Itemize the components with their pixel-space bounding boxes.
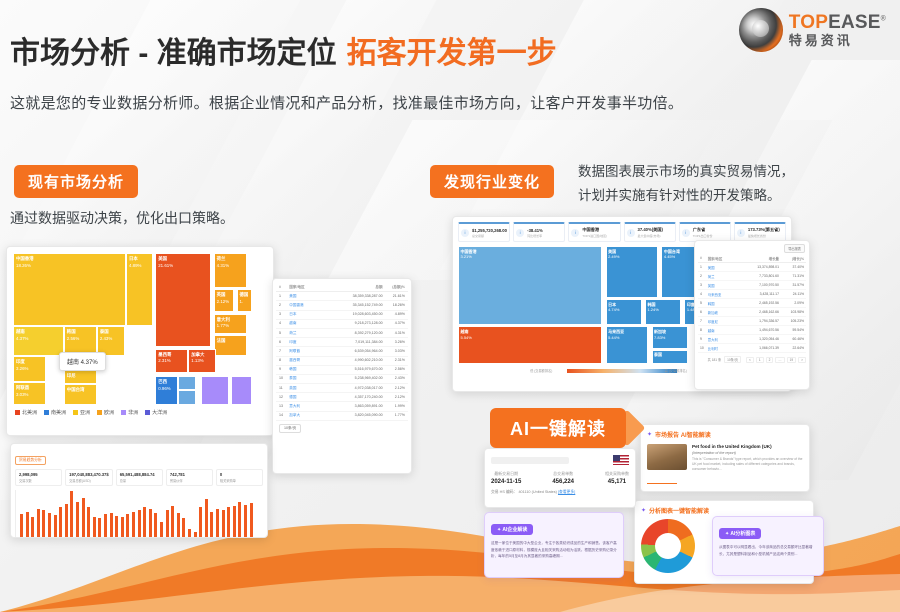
rank-percent: 60.46% bbox=[779, 337, 804, 342]
treemap-cell[interactable] bbox=[178, 376, 196, 390]
report-body: This is "Consumer & Brands" type report,… bbox=[692, 457, 803, 473]
section-left-tag: 现有市场分析 bbox=[14, 165, 138, 198]
bar[interactable] bbox=[31, 517, 34, 537]
rank-num: 7 bbox=[700, 319, 708, 324]
treemap-cell[interactable]: 越南4.37% bbox=[13, 326, 64, 356]
rank-growth: 1,066,071.39 bbox=[740, 346, 779, 351]
bar[interactable] bbox=[182, 518, 185, 537]
col-country: 国家/地区 bbox=[289, 285, 330, 290]
rank-percent: 2.09% bbox=[779, 301, 804, 306]
hs-code-label: 交易 HS 编码： bbox=[491, 490, 517, 494]
page-button[interactable]: 1 bbox=[756, 357, 764, 363]
cell-amount: 3,863,059,891.00 bbox=[330, 404, 382, 409]
cell-label: 泰国 bbox=[654, 352, 685, 358]
page-size-select[interactable]: 10条/页 bbox=[279, 424, 301, 433]
bar[interactable] bbox=[59, 507, 62, 537]
cell-value: 5.44% bbox=[608, 335, 619, 340]
growth-rank-table-panel[interactable]: 导出报表 # 国家/地区 增长量 (增长)% 1 美国 13,374,898.0… bbox=[694, 240, 810, 390]
market-report-card[interactable]: ✦ 市场报告 AI智能解读 Pet food in the United Kin… bbox=[640, 424, 810, 492]
bar[interactable] bbox=[244, 505, 247, 537]
ai-chart-note-card[interactable]: ✦ AI分析图表 从图表中可以明显看出，今年该商品的总交易额环比显著增长，尤其是… bbox=[712, 516, 824, 576]
table-row[interactable]: 5 荷兰 8,392,279,120.00 4.31% bbox=[276, 329, 408, 338]
bar[interactable] bbox=[115, 516, 118, 537]
rank-num: 10 bbox=[700, 346, 708, 351]
province-treemap-cell[interactable]: 越南5.54% bbox=[458, 326, 602, 364]
treemap-cell[interactable]: 意大利1.77% bbox=[214, 314, 247, 334]
legend-swatch bbox=[97, 410, 102, 415]
rank-row[interactable]: 7 印度尼 1,794,336.57 105.23% bbox=[698, 317, 806, 326]
table-row[interactable]: 7 阿联酋 6,539,054,964.00 3.03% bbox=[276, 347, 408, 356]
bar[interactable] bbox=[222, 510, 225, 537]
cell-rank: 7 bbox=[279, 349, 289, 354]
ai-company-title: ✦ AI企业解读 bbox=[491, 524, 533, 535]
stat-col-label: 最新交易日期 bbox=[491, 471, 521, 477]
treemap-cell[interactable]: 法国 bbox=[214, 335, 247, 356]
treemap-cell-label: 德国 bbox=[240, 292, 249, 299]
treemap-cell-value: 4.89% bbox=[129, 263, 141, 268]
rank-growth: 2,465,192.56 bbox=[740, 301, 779, 306]
rank-row[interactable]: 9 意大利 1,320,054.46 60.46% bbox=[698, 335, 806, 344]
treemap-legend[interactable]: 北美洲南美洲亚洲欧洲非洲大洋洲 bbox=[13, 409, 267, 416]
trend-icon: i bbox=[737, 229, 745, 237]
treemap-cell-value: 3.26% bbox=[16, 366, 28, 371]
treemap-cell[interactable]: 中国香港18.26% bbox=[13, 253, 126, 326]
treemap-cell-label: 印尼 bbox=[67, 373, 94, 380]
cell-country[interactable]: 美国 bbox=[289, 294, 330, 299]
section-right-desc-line1: 数据图表展示市场的真实贸易情况， bbox=[578, 160, 794, 184]
hs-code-footer: 交易 HS 编码： 401110 (United States) [查看更多] bbox=[491, 490, 629, 495]
rank-country[interactable]: 越南 bbox=[708, 328, 741, 333]
rank-row[interactable]: 8 越南 1,494,670.56 59.54% bbox=[698, 326, 806, 335]
treemap-chart[interactable]: 中国香港18.26%日本4.89%越南4.37%韩国2.56%泰国2.43%印度… bbox=[13, 253, 267, 405]
cell-amount: 19,028,603,450.00 bbox=[330, 312, 382, 317]
bar[interactable] bbox=[194, 532, 197, 537]
bar[interactable] bbox=[70, 491, 73, 537]
stat-col-value: 45,171 bbox=[605, 479, 629, 485]
bar[interactable] bbox=[93, 517, 96, 537]
legend-swatch bbox=[44, 410, 49, 415]
legend-label: 南美洲 bbox=[51, 409, 66, 416]
cell-percent: 3.26% bbox=[383, 340, 405, 345]
sparkle-icon: ✦ bbox=[725, 531, 729, 537]
bar[interactable] bbox=[42, 510, 45, 537]
report-thumbnail-icon bbox=[647, 444, 687, 470]
rank-num: 9 bbox=[700, 337, 708, 342]
table-row[interactable]: 6 印度 7,019,111,384.00 3.26% bbox=[276, 338, 408, 347]
info-icon: i bbox=[461, 229, 469, 237]
trade-trend-panel[interactable]: 贸易趋势分析 2,998,095交易次数197,040,883,470.37$交… bbox=[10, 443, 268, 538]
stat-column: 总交易单数456,224 bbox=[552, 471, 574, 485]
cell-amount: 38,359,338,287.00 bbox=[330, 294, 382, 299]
kpi-card[interactable]: i -38.41%同比增长率 bbox=[513, 222, 565, 242]
treemap-cell-value: 2.31% bbox=[158, 358, 170, 363]
treemap-cell[interactable]: 中国台湾 bbox=[64, 384, 97, 405]
page-button[interactable]: < bbox=[746, 357, 754, 363]
treemap-cell[interactable] bbox=[178, 390, 196, 405]
rank-pagination[interactable]: 共 181 条 10条/页 <12…19> bbox=[698, 356, 806, 363]
bar[interactable] bbox=[54, 515, 57, 537]
table-row[interactable]: 1 美国 38,359,338,287.00 21.61% bbox=[276, 292, 408, 301]
rank-growth: 7,100,970.50 bbox=[740, 283, 779, 288]
rank-num: 6 bbox=[700, 310, 708, 315]
rank-col-percent: (增长)% bbox=[779, 256, 804, 261]
bar[interactable] bbox=[121, 517, 124, 537]
rank-row[interactable]: 2 荷兰 7,733,801.60 71.31% bbox=[698, 272, 806, 281]
legend-item[interactable]: 欧洲 bbox=[97, 409, 114, 416]
cell-country[interactable]: 印度 bbox=[289, 340, 330, 345]
cell-country[interactable]: 墨西哥 bbox=[289, 358, 330, 363]
province-treemap-cell[interactable]: 中国香港3.21% bbox=[458, 246, 602, 325]
province-treemap-cell[interactable]: 日本4.74% bbox=[606, 299, 642, 325]
cell-percent: 2.12% bbox=[383, 386, 405, 391]
cell-rank: 9 bbox=[279, 367, 289, 372]
rank-country[interactable]: 新加坡 bbox=[708, 310, 741, 315]
legend-swatch bbox=[15, 410, 20, 415]
bar[interactable] bbox=[37, 509, 40, 537]
stat-column: 最新交易日期2024-11-15 bbox=[491, 471, 521, 485]
treemap-cell[interactable]: 印度3.26% bbox=[13, 356, 46, 382]
kpi-value: 中国香港 bbox=[582, 227, 607, 233]
cell-country[interactable]: 意大利 bbox=[289, 404, 330, 409]
bar[interactable] bbox=[149, 509, 152, 537]
stat-label: 总量 bbox=[120, 478, 159, 483]
bar[interactable] bbox=[126, 514, 129, 537]
bar[interactable] bbox=[87, 507, 90, 537]
treemap-cell[interactable]: 荷兰4.31% bbox=[214, 253, 247, 288]
kpi-card-row[interactable]: i $1,255,720,268.00总交易额i -38.41%同比增长率i 中… bbox=[458, 222, 786, 242]
ai-ribbon: AI一键解读 bbox=[490, 408, 626, 448]
cell-rank: 1 bbox=[279, 294, 289, 299]
cell-amount: 8,392,279,120.00 bbox=[330, 331, 382, 336]
section-right-desc: 数据图表展示市场的真实贸易情况， 计划并实施有针对性的开发策略。 bbox=[578, 160, 794, 207]
export-report-button[interactable]: 导出报表 bbox=[784, 244, 805, 253]
bar[interactable] bbox=[216, 509, 219, 537]
treemap-cell-value: 2.12% bbox=[217, 299, 229, 304]
bar[interactable] bbox=[82, 498, 85, 537]
cell-value: 5.54% bbox=[461, 335, 472, 340]
scale-label-low: 低 (交易额排名) bbox=[530, 368, 552, 373]
stat-column: 相关采购单数45,171 bbox=[605, 471, 629, 485]
legend-swatch bbox=[73, 410, 78, 415]
sparkle-icon: ✦ bbox=[497, 527, 501, 533]
cell-country[interactable]: 加拿大 bbox=[289, 413, 330, 418]
stat-tile: 0相关采购单 bbox=[216, 469, 263, 486]
rank-col-num: # bbox=[700, 256, 708, 261]
rank-country[interactable]: 韩国 bbox=[708, 301, 741, 306]
stat-col-label: 总交易单数 bbox=[552, 471, 574, 477]
rank-num: 3 bbox=[700, 283, 708, 288]
rank-country[interactable]: 比利时 bbox=[708, 346, 741, 351]
legend-item[interactable]: 非洲 bbox=[121, 409, 138, 416]
country-amount-table-panel[interactable]: # 国家/地区 总额 (总额)% 1 美国 38,359,338,287.00 … bbox=[272, 278, 412, 474]
rank-percent: 31.57% bbox=[779, 283, 804, 288]
cell-rank: 14 bbox=[279, 413, 289, 418]
page-title-accent: 拓客开发第一步 bbox=[347, 37, 557, 70]
bar[interactable] bbox=[166, 510, 169, 537]
page-button[interactable]: 2 bbox=[766, 357, 774, 363]
rank-percent: 71.31% bbox=[779, 274, 804, 279]
treemap-cell[interactable]: 加拿大1.13% bbox=[188, 349, 216, 373]
rank-col-country: 国家/地区 bbox=[708, 256, 741, 261]
treemap-panel[interactable]: 中国香港18.26%日本4.89%越南4.37%韩国2.56%泰国2.43%印度… bbox=[6, 246, 274, 436]
treemap-cell-label: 加拿大 bbox=[191, 352, 213, 359]
trade-trend-bar-chart[interactable] bbox=[15, 490, 263, 538]
cell-amount: 35,345,152,749.00 bbox=[330, 303, 382, 308]
province-treemap-cell[interactable]: 马来西亚5.44% bbox=[606, 326, 649, 364]
cell-country[interactable]: 日本 bbox=[289, 312, 330, 317]
rank-page-size[interactable]: 10条/页 bbox=[724, 356, 741, 363]
province-treemap-cell[interactable]: 美国2.49% bbox=[606, 246, 658, 298]
rank-percent: 24.11% bbox=[779, 292, 804, 297]
cell-country[interactable]: 中国香港 bbox=[289, 303, 330, 308]
ai-company-title-text: AI企业解读 bbox=[502, 527, 527, 533]
rank-num: 1 bbox=[700, 265, 708, 270]
treemap-cell[interactable]: 英国2.12% bbox=[214, 289, 234, 312]
bar[interactable] bbox=[233, 506, 236, 537]
table-row[interactable]: 8 墨西哥 4,990,602,210.00 2.31% bbox=[276, 357, 408, 366]
kpi-value: 173.73%(第五省) bbox=[748, 227, 780, 233]
bar[interactable] bbox=[160, 522, 163, 537]
sparkle-icon: ✦ bbox=[647, 431, 652, 438]
rank-growth: 1,794,336.57 bbox=[740, 319, 779, 324]
province-treemap-cell[interactable]: 韩国1.24% bbox=[645, 299, 681, 325]
bar[interactable] bbox=[154, 513, 157, 537]
report-subheading: (Interpretation of the report) bbox=[692, 451, 803, 455]
treemap-cell-label: 阿联酋 bbox=[16, 385, 43, 392]
cell-rank: 5 bbox=[279, 331, 289, 336]
table-row[interactable]: 10 泰国 5,238,969,402.00 2.43% bbox=[276, 375, 408, 384]
page-button[interactable]: 19 bbox=[787, 357, 797, 363]
ai-chart-note-body: 从图表中可以明显看出，今年该商品的总交易额环比显著增长，尤其是塑料制品和小型机械… bbox=[719, 544, 817, 557]
kpi-label: 总交易额 bbox=[472, 234, 507, 238]
cell-value: 2.49% bbox=[608, 254, 619, 259]
cell-amount: 4,972,038,017.00 bbox=[330, 386, 382, 391]
section-right-tag-wrap: 发现行业变化 bbox=[430, 165, 554, 198]
legend-item[interactable]: 南美洲 bbox=[44, 409, 66, 416]
cell-country[interactable]: 泰国 bbox=[289, 376, 330, 381]
kpi-card[interactable]: i 173.73%(第五省)最快增长省份 bbox=[734, 222, 786, 242]
kpi-label: 最快增长省份 bbox=[748, 234, 780, 238]
rank-row[interactable]: 4 马来西亚 3,428,111.17 24.11% bbox=[698, 290, 806, 299]
treemap-cell-label: 中国香港 bbox=[16, 256, 123, 263]
cell-percent: 4.89% bbox=[383, 312, 405, 317]
rank-row[interactable]: 3 英国 7,100,970.50 31.57% bbox=[698, 281, 806, 290]
stat-value: 742,781 bbox=[170, 472, 209, 477]
bar[interactable] bbox=[48, 513, 51, 537]
rank-growth: 3,428,111.17 bbox=[740, 292, 779, 297]
rank-row[interactable]: 1 美国 13,374,898.01 37.40% bbox=[698, 263, 806, 272]
rank-num: 4 bbox=[700, 292, 708, 297]
province-treemap-cell[interactable]: 新加坡7.83% bbox=[652, 326, 688, 348]
page-subtitle: 这就是您的专业数据分析师。根据企业情况和产品分析，找准最佳市场方向，让客户开发事… bbox=[10, 92, 683, 113]
kpi-card[interactable]: i $1,255,720,268.00总交易额 bbox=[458, 222, 510, 242]
rank-row[interactable]: 5 韩国 2,465,192.56 2.09% bbox=[698, 299, 806, 308]
rank-country[interactable]: 印度尼 bbox=[708, 319, 741, 324]
table-row[interactable]: 3 日本 19,028,603,450.00 4.89% bbox=[276, 311, 408, 320]
logo-wordmark: TOPEASE® bbox=[789, 13, 886, 33]
treemap-cell-value: 4.37% bbox=[16, 336, 28, 341]
cell-percent: 2.12% bbox=[383, 395, 405, 400]
transaction-stat-card[interactable]: 最新交易日期2024-11-15总交易单数456,224相关采购单数45,171… bbox=[484, 448, 636, 508]
kpi-value: $1,255,720,268.00 bbox=[472, 228, 507, 233]
bar[interactable] bbox=[177, 513, 180, 537]
cell-amount: 3,820,045,090.00 bbox=[330, 413, 382, 418]
cell-rank: 4 bbox=[279, 321, 289, 326]
cell-amount: 7,019,111,384.00 bbox=[330, 340, 382, 345]
brand-logo: TOPEASE® 特易资讯 bbox=[739, 8, 886, 52]
table-row[interactable]: 9 韩国 5,516,979,670.00 2.56% bbox=[276, 366, 408, 375]
treemap-cell-label: 中国台湾 bbox=[67, 387, 94, 394]
bar[interactable] bbox=[250, 503, 253, 537]
cell-value: 4.74% bbox=[608, 307, 619, 312]
cell-percent: 2.43% bbox=[383, 376, 405, 381]
rank-country[interactable]: 马来西亚 bbox=[708, 292, 741, 297]
table-footer[interactable]: 10条/页 bbox=[276, 424, 408, 433]
rank-col-growth: 增长量 bbox=[740, 256, 779, 261]
rank-header-row: # 国家/地区 增长量 (增长)% bbox=[698, 254, 806, 263]
rank-country[interactable]: 意大利 bbox=[708, 337, 741, 342]
bar[interactable] bbox=[110, 513, 113, 537]
view-more-link[interactable]: [查看更多] bbox=[558, 490, 575, 494]
kpi-card[interactable]: i 广东省TOP1出口省份 bbox=[679, 222, 731, 242]
treemap-cell-label: 印度 bbox=[16, 359, 43, 366]
cell-percent: 3.03% bbox=[383, 349, 405, 354]
bar[interactable] bbox=[227, 507, 230, 537]
bar[interactable] bbox=[98, 518, 101, 537]
cell-value: 3.21% bbox=[461, 254, 472, 259]
cell-percent: 1.77% bbox=[383, 413, 405, 418]
legend-label: 北美洲 bbox=[22, 409, 37, 416]
globe-icon: i bbox=[571, 229, 579, 237]
chart-card-title: 分析图表一键智能解读 bbox=[649, 506, 709, 515]
col-rank: # bbox=[279, 285, 289, 290]
cell-country[interactable]: 英国 bbox=[289, 386, 330, 391]
treemap-cell[interactable]: 墨西哥2.31% bbox=[155, 349, 188, 373]
rank-growth: 13,374,898.01 bbox=[740, 265, 779, 270]
table-header-row: # 国家/地区 总额 (总额)% bbox=[276, 283, 408, 292]
ai-company-card[interactable]: ✦ AI企业解读 这是一家位于美国的中大型企业，专注于各类纺织成品的生产和销售。… bbox=[484, 512, 624, 578]
ai-company-body: 这是一家位于美国的中大型企业，专注于各类纺织成品的生产和销售。该客户高度依赖于进… bbox=[491, 540, 617, 560]
treemap-cell-value: 2.43% bbox=[100, 336, 112, 341]
province-treemap-cell[interactable]: 泰国 bbox=[652, 350, 688, 364]
stat-columns: 最新交易日期2024-11-15总交易单数456,224相关采购单数45,171 bbox=[491, 471, 629, 485]
cell-country[interactable]: 越南 bbox=[289, 321, 330, 326]
table-row[interactable]: 11 英国 4,972,038,017.00 2.12% bbox=[276, 384, 408, 393]
cell-country[interactable]: 阿联酋 bbox=[289, 349, 330, 354]
treemap-cell-value: 1.77% bbox=[217, 323, 229, 328]
cell-rank: 8 bbox=[279, 358, 289, 363]
bar[interactable] bbox=[171, 506, 174, 537]
kpi-card[interactable]: i 37.40%(美国)最大集中度(市场) bbox=[624, 222, 676, 242]
rank-country[interactable]: 英国 bbox=[708, 283, 741, 288]
treemap-cell[interactable] bbox=[231, 376, 251, 405]
cell-country[interactable]: 韩国 bbox=[289, 367, 330, 372]
rank-num: 5 bbox=[700, 301, 708, 306]
bar[interactable] bbox=[104, 514, 107, 537]
treemap-cell-value: 2.56% bbox=[67, 336, 79, 341]
ai-chart-note-title-text: AI分析图表 bbox=[730, 531, 755, 537]
cell-amount: 4,357,170,240.00 bbox=[330, 395, 382, 400]
treemap-cell[interactable]: 巴西0.96% bbox=[155, 376, 178, 405]
treemap-cell[interactable] bbox=[201, 376, 229, 405]
rank-percent: 59.54% bbox=[779, 328, 804, 333]
bar[interactable] bbox=[132, 512, 135, 538]
cell-country[interactable]: 荷兰 bbox=[289, 331, 330, 336]
rank-row[interactable]: 10 比利时 1,066,071.39 22.64% bbox=[698, 344, 806, 353]
cell-amount: 6,539,054,964.00 bbox=[330, 349, 382, 354]
bar[interactable] bbox=[20, 514, 23, 537]
stat-value: 65,591,488,884.74 bbox=[120, 472, 159, 477]
report-heading: Pet food in the United Kingdom (UK) bbox=[692, 444, 803, 449]
page-button[interactable]: > bbox=[798, 357, 806, 363]
rank-country[interactable]: 荷兰 bbox=[708, 274, 741, 279]
cell-rank: 12 bbox=[279, 395, 289, 400]
cell-rank: 6 bbox=[279, 340, 289, 345]
legend-item[interactable]: 大洋洲 bbox=[145, 409, 167, 416]
kpi-value: 37.40%(美国) bbox=[638, 227, 663, 233]
bar[interactable] bbox=[199, 507, 202, 537]
stat-label: 贸易伙伴 bbox=[170, 478, 209, 483]
bar[interactable] bbox=[238, 502, 241, 537]
table-row[interactable]: 13 意大利 3,863,059,891.00 1.99% bbox=[276, 402, 408, 411]
legend-label: 亚洲 bbox=[80, 409, 90, 416]
treemap-cell-label: 泰国 bbox=[100, 329, 122, 336]
treemap-cell[interactable]: 日本4.89% bbox=[126, 253, 153, 326]
stat-tile: 2,998,095交易次数 bbox=[15, 469, 62, 486]
legend-item[interactable]: 北美洲 bbox=[15, 409, 37, 416]
table-row[interactable]: 2 中国香港 35,345,152,749.00 18.26% bbox=[276, 301, 408, 310]
topease-logo-icon bbox=[739, 8, 783, 52]
treemap-cell[interactable]: 德国1. bbox=[237, 289, 252, 312]
bar[interactable] bbox=[188, 529, 191, 537]
cell-value: 7.83% bbox=[654, 335, 665, 340]
bar[interactable] bbox=[26, 512, 29, 538]
cell-label: 中国香港 bbox=[461, 249, 600, 255]
treemap-cell-value: 21.61% bbox=[158, 263, 173, 268]
treemap-cell[interactable]: 阿联酋3.03% bbox=[13, 382, 46, 405]
bar[interactable] bbox=[210, 512, 213, 538]
kpi-card[interactable]: i 中国香港TOP1进口国(地区) bbox=[568, 222, 620, 242]
bar[interactable] bbox=[65, 504, 68, 537]
rank-num: 2 bbox=[700, 274, 708, 279]
legend-swatch bbox=[121, 410, 126, 415]
stat-value: 2,998,095 bbox=[19, 472, 58, 477]
chart-icon: i bbox=[627, 229, 635, 237]
treemap-cell[interactable]: 印尼 bbox=[64, 370, 97, 384]
bar[interactable] bbox=[205, 499, 208, 537]
table-row[interactable]: 4 越南 9,218,273,128.00 4.37% bbox=[276, 320, 408, 329]
treemap-cell[interactable]: 美国21.61% bbox=[155, 253, 211, 347]
cell-country[interactable]: 德国 bbox=[289, 395, 330, 400]
bar[interactable] bbox=[138, 510, 141, 537]
logo-word-top: TOP bbox=[789, 12, 828, 33]
legend-label: 非洲 bbox=[128, 409, 138, 416]
rank-country[interactable]: 美国 bbox=[708, 265, 741, 270]
page-button[interactable]: … bbox=[775, 357, 784, 363]
table-row[interactable]: 12 德国 4,357,170,240.00 2.12% bbox=[276, 393, 408, 402]
treemap-cell-label: 美国 bbox=[158, 256, 208, 263]
bar[interactable] bbox=[143, 507, 146, 537]
rank-row[interactable]: 6 新加坡 2,468,162.66 103.98% bbox=[698, 308, 806, 317]
stat-col-value: 2024-11-15 bbox=[491, 479, 521, 485]
bar[interactable] bbox=[76, 502, 79, 537]
treemap-cell-value: 1.13% bbox=[191, 358, 203, 363]
table-row[interactable]: 14 加拿大 3,820,045,090.00 1.77% bbox=[276, 412, 408, 421]
sparkle-icon: ✦ bbox=[641, 507, 646, 514]
legend-item[interactable]: 亚洲 bbox=[73, 409, 90, 416]
trade-trend-stats: 2,998,095交易次数197,040,883,470.37$交易总额(USD… bbox=[15, 469, 263, 486]
donut-chart-icon[interactable] bbox=[641, 519, 695, 573]
